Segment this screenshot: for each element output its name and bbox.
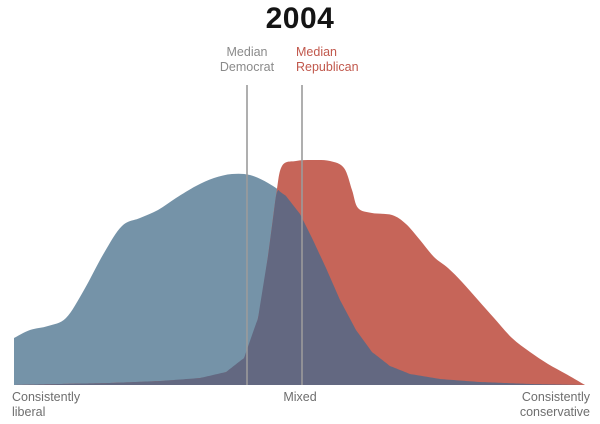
chart-container: 2004 Median Democrat Median Republican C…	[0, 0, 600, 424]
areas-group	[14, 160, 585, 385]
axis-label-mixed: Mixed	[240, 390, 360, 405]
axis-label-consistently-conservative: Consistently conservative	[520, 390, 590, 420]
axis-label-consistently-liberal: Consistently liberal	[12, 390, 80, 420]
distribution-plot	[0, 0, 600, 424]
